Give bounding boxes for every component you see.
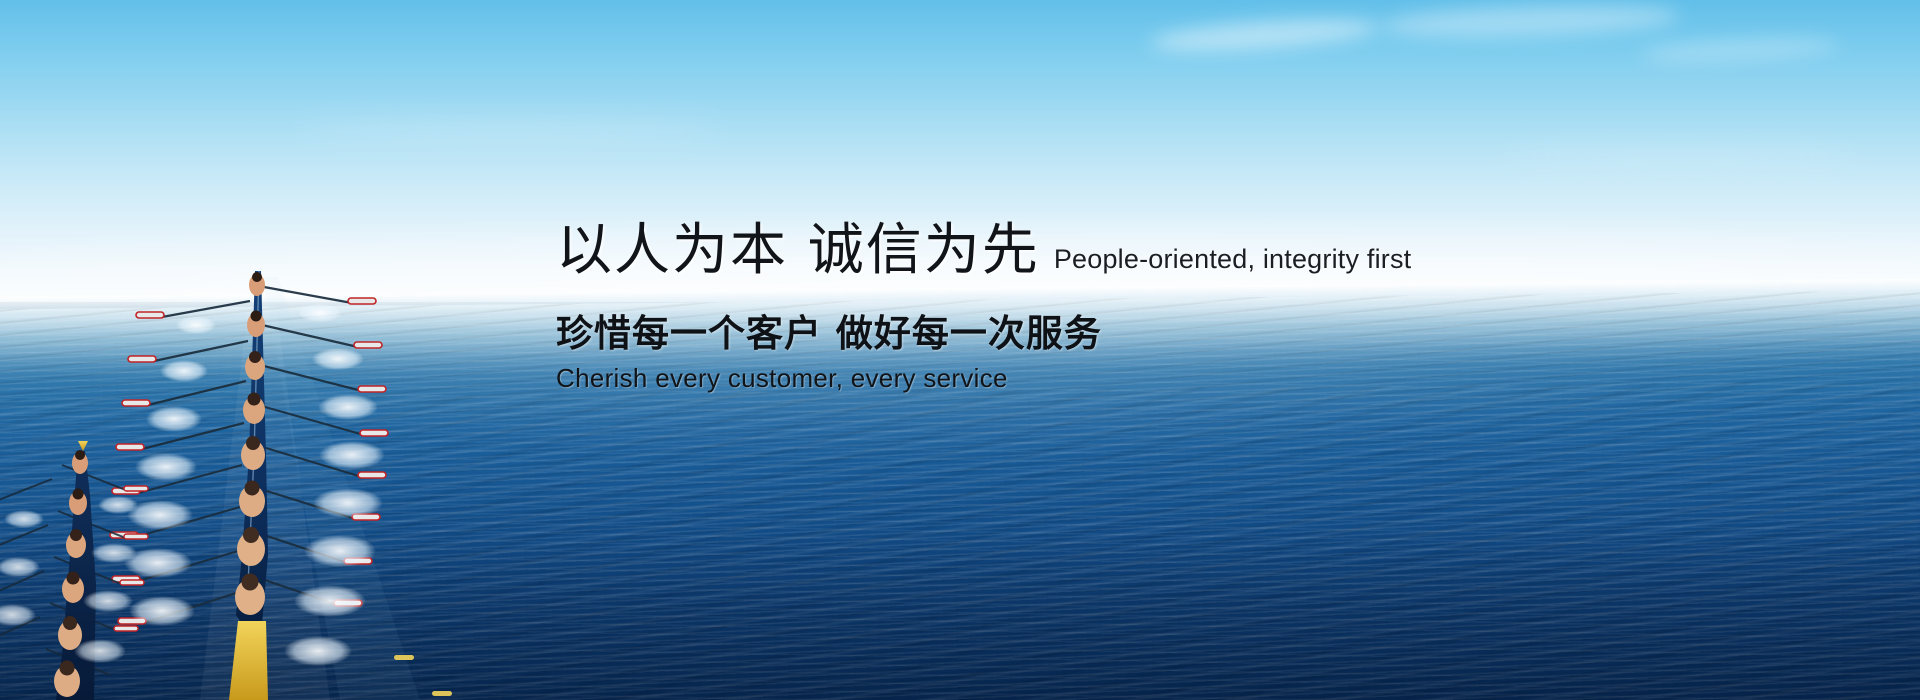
cloud [1500, 150, 1860, 166]
subline-english: Cherish every customer, every service [556, 363, 1556, 394]
cloud [1149, 14, 1380, 56]
boat-bow [78, 441, 88, 451]
cloud [1380, 1, 1681, 41]
headline-chinese: 以人为本 诚信为先 [556, 222, 1040, 281]
hero-banner: 以人为本 诚信为先 People-oriented, integrity fir… [0, 0, 1920, 700]
subline-chinese: 珍惜每一个客户 做好每一次服务 [556, 303, 1556, 357]
rowing-boats-group [0, 255, 560, 700]
headline-english: People-oriented, integrity first [1054, 244, 1412, 281]
cloud [1640, 35, 1841, 65]
cloud [300, 120, 720, 138]
headline-row: 以人为本 诚信为先 People-oriented, integrity fir… [556, 222, 1556, 281]
slogan-block: 以人为本 诚信为先 People-oriented, integrity fir… [556, 222, 1556, 394]
